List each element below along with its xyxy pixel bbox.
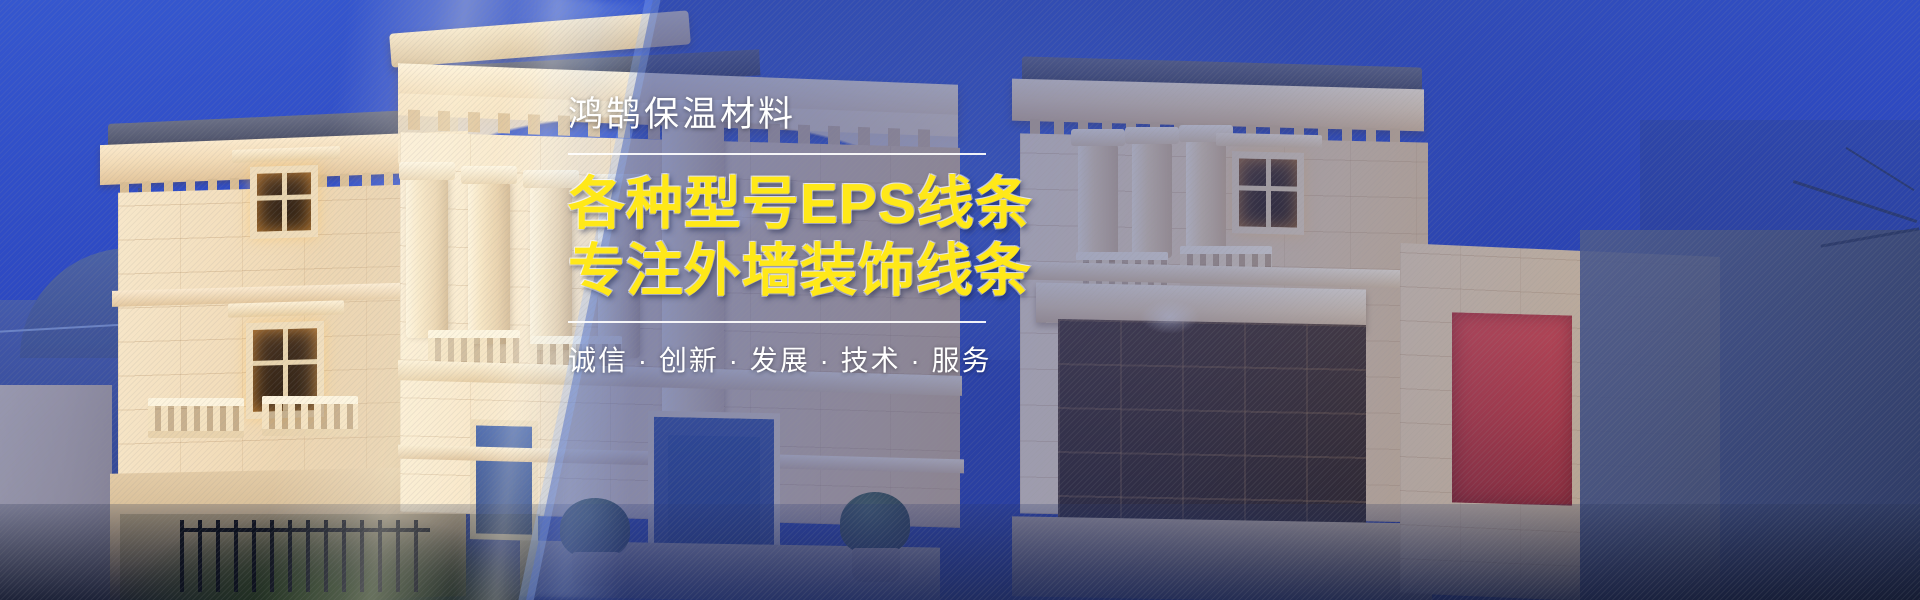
far-right-red-panel [1452,312,1572,505]
divider-above-headline [568,153,986,155]
right-wing-column-3 [1186,140,1226,254]
foreground-fence [180,520,430,592]
portico-column-1 [406,178,448,338]
headline-line-1: 各种型号EPS线条 [568,171,1028,238]
right-wing-window-hood [1216,133,1322,148]
left-wing-window-upper [250,165,318,239]
right-wing-window [1232,151,1304,235]
banner-copy-block: 鸿鹄保温材料 各种型号EPS线条 专注外墙装饰线条 诚信 · 创新 · 发展 ·… [568,96,1028,379]
portico-column-3 [530,186,572,350]
brand-name: 鸿鹄保温材料 [568,96,1028,135]
headline-group: 各种型号EPS线条 专注外墙装饰线条 [568,171,1028,306]
balustrade-left-a [148,398,244,438]
balustrade-left-b [262,396,358,436]
headline-line-2: 专注外墙装饰线条 [568,238,1028,305]
right-wing-column-2 [1132,142,1172,258]
tagline: 诚信 · 创新 · 发展 · 技术 · 服务 [568,339,1028,379]
portico-column-2 [468,182,510,344]
divider-below-headline [568,321,986,323]
right-wing-column-1 [1078,144,1118,262]
banner-root: 鸿鹄保温材料 各种型号EPS线条 专注外墙装饰线条 诚信 · 创新 · 发展 ·… [0,0,1920,600]
